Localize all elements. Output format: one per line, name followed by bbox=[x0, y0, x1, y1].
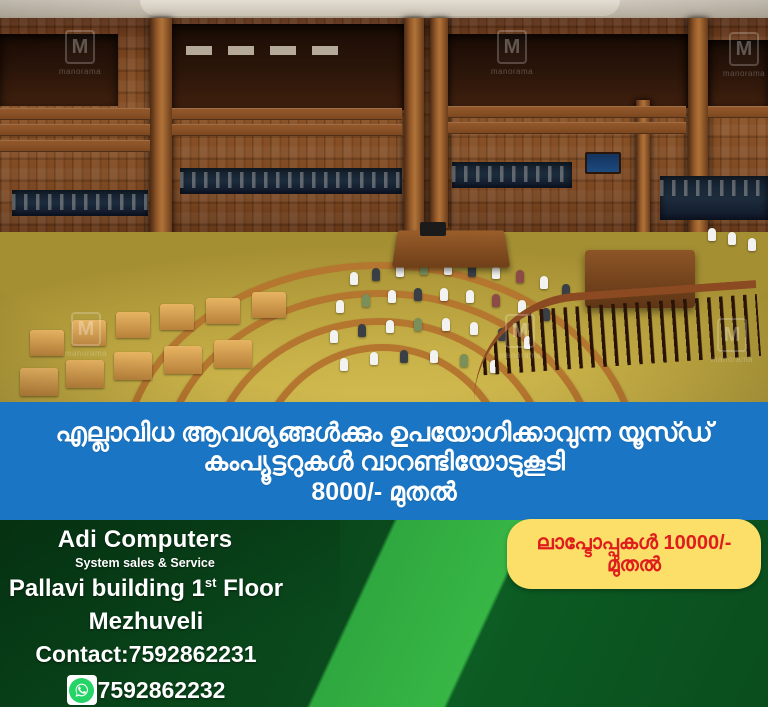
offer-banner: എല്ലാവിധ ആവശ്യങ്ങൾക്കും ഉപയോഗിക്കാവുന്ന … bbox=[0, 402, 768, 520]
gallery-tier bbox=[448, 122, 686, 134]
empty-seat bbox=[252, 292, 286, 318]
offer-line-1: എല്ലാവിധ ആവശ്യങ്ങൾക്കും ഉപയോഗിക്കാവുന്ന … bbox=[55, 418, 712, 447]
assembly-member bbox=[336, 300, 344, 313]
assembly-member bbox=[340, 358, 348, 371]
gallery-tier bbox=[172, 124, 402, 136]
assembly-member bbox=[440, 288, 448, 301]
empty-seat bbox=[214, 340, 252, 368]
assembly-member bbox=[708, 228, 716, 241]
clerestory-slit bbox=[186, 46, 212, 55]
address-line-1: Pallavi building 1st Floor bbox=[0, 575, 292, 603]
empty-seat bbox=[30, 330, 64, 356]
assembly-member bbox=[400, 350, 408, 363]
assembly-member bbox=[372, 268, 380, 281]
ordinal-suffix: st bbox=[205, 575, 217, 590]
contact-phone-whatsapp[interactable]: 7592862232 bbox=[98, 677, 226, 704]
assembly-member bbox=[430, 350, 438, 363]
ceiling-arch bbox=[140, 0, 620, 16]
gallery-tier bbox=[708, 106, 768, 118]
empty-seat bbox=[116, 312, 150, 338]
clerestory-slit bbox=[312, 46, 338, 55]
whatsapp-icon[interactable] bbox=[67, 675, 97, 705]
assembly-member bbox=[442, 318, 450, 331]
assembly-member bbox=[370, 352, 378, 365]
assembly-member bbox=[358, 324, 366, 337]
brand-block: Adi Computers System sales & Service bbox=[0, 526, 290, 570]
gallery-recess-left bbox=[0, 34, 118, 106]
assembly-member bbox=[748, 238, 756, 251]
clerestory-slit bbox=[270, 46, 296, 55]
assembly-member bbox=[466, 290, 474, 303]
address-building: Pallavi building 1 bbox=[9, 575, 205, 602]
assembly-member bbox=[330, 330, 338, 343]
gallery-audience bbox=[12, 190, 148, 216]
wall-pillar bbox=[404, 18, 424, 233]
shop-name: Adi Computers bbox=[0, 526, 290, 554]
empty-seat bbox=[114, 352, 152, 380]
gallery-recess-far-right bbox=[706, 40, 768, 106]
assembly-member bbox=[388, 290, 396, 303]
contact-whatsapp-row[interactable]: 7592862232 bbox=[0, 675, 292, 705]
empty-seat bbox=[72, 320, 106, 346]
wall-pillar bbox=[636, 100, 650, 240]
gallery-recess-right bbox=[440, 34, 690, 108]
clerestory-slit bbox=[228, 46, 254, 55]
assembly-member bbox=[350, 272, 358, 285]
address-line-2: Mezhuveli bbox=[0, 608, 292, 636]
wall-display-screen bbox=[585, 152, 621, 174]
assembly-member bbox=[362, 294, 370, 307]
empty-seat bbox=[20, 368, 58, 396]
assembly-member bbox=[414, 288, 422, 301]
laptop-badge-line-2: മുതൽ bbox=[607, 554, 661, 576]
laptop-badge-line-1: ലാപ്ടോപ്പുകൾ 10000/- bbox=[537, 532, 732, 554]
wall-pillar bbox=[430, 18, 448, 228]
assembly-member bbox=[492, 266, 500, 279]
gallery-tier bbox=[448, 106, 686, 118]
gallery-audience bbox=[180, 168, 402, 194]
assembly-member bbox=[516, 270, 524, 283]
laptop-price-badge: ലാപ്ടോപ്പുകൾ 10000/- മുതൽ bbox=[507, 519, 761, 589]
gallery-tier bbox=[172, 108, 402, 120]
empty-seat bbox=[160, 304, 194, 330]
gallery-recess-center bbox=[160, 24, 408, 110]
assembly-member bbox=[460, 354, 468, 367]
assembly-member bbox=[492, 294, 500, 307]
gallery-tier bbox=[0, 140, 150, 152]
gallery-tier bbox=[0, 108, 150, 120]
assembly-member bbox=[414, 318, 422, 331]
empty-seat bbox=[164, 346, 202, 374]
shop-tagline: System sales & Service bbox=[0, 556, 290, 570]
advertisement-poster: M manorama M manorama M manorama M manor… bbox=[0, 0, 768, 707]
offer-line-2: കംപ്യൂട്ടറുകൾ വാറണ്ടിയോടുകൂടി bbox=[203, 447, 564, 476]
assembly-member bbox=[540, 276, 548, 289]
center-table-laptop bbox=[420, 222, 446, 236]
address-floor: Floor bbox=[216, 575, 283, 602]
offer-price-line: 8000/- മുതൽ bbox=[311, 478, 456, 506]
empty-seat bbox=[206, 298, 240, 324]
gallery-audience bbox=[660, 176, 768, 220]
assembly-hall-photo: M manorama M manorama M manorama M manor… bbox=[0, 0, 768, 402]
empty-seat bbox=[66, 360, 104, 388]
gallery-tier bbox=[0, 124, 150, 136]
wall-pillar bbox=[150, 18, 172, 248]
assembly-member bbox=[728, 232, 736, 245]
assembly-member bbox=[470, 322, 478, 335]
contact-phone-primary[interactable]: Contact:7592862231 bbox=[0, 641, 292, 668]
center-table bbox=[392, 230, 510, 267]
gallery-audience bbox=[452, 162, 572, 188]
assembly-member bbox=[386, 320, 394, 333]
